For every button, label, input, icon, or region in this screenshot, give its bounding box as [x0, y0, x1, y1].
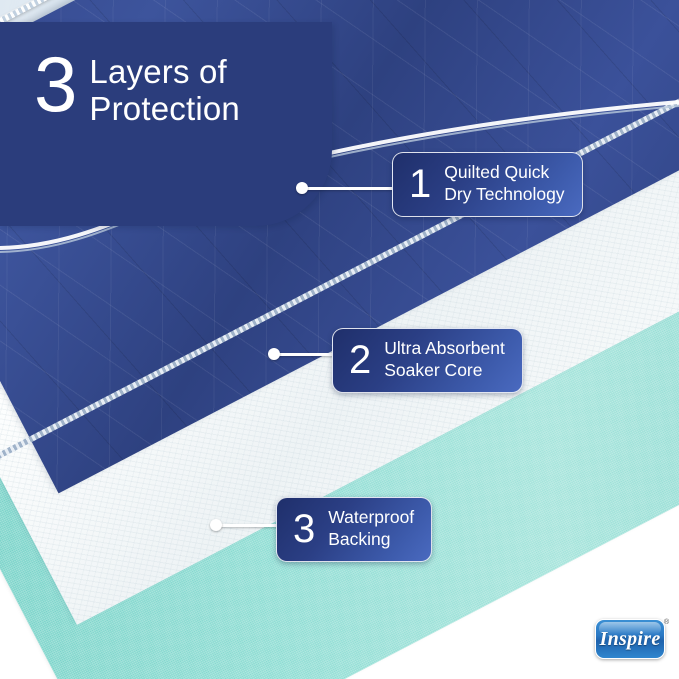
leader-line-2 [276, 353, 336, 356]
brand-logo-badge: Inspire [595, 619, 665, 659]
leader-dot-1 [296, 182, 308, 194]
brand-logo: Inspire ® [595, 619, 667, 661]
leader-dot-3 [210, 519, 222, 531]
headline-line-2: Protection [89, 91, 240, 128]
callout-3-line-2: Backing [328, 529, 414, 551]
callout-number-1: 1 [409, 164, 431, 204]
headline-banner-content: 3 Layers of Protection [34, 48, 240, 128]
headline-line-1: Layers of [89, 54, 240, 91]
callout-text-3: Waterproof Backing [328, 507, 414, 550]
callout-2-line-1: Ultra Absorbent [384, 338, 505, 360]
headline-number: 3 [34, 48, 75, 121]
callout-ultra-absorbent-core: 2 Ultra Absorbent Soaker Core [332, 328, 523, 393]
leader-line-1 [304, 187, 396, 190]
brand-logo-text: Inspire [599, 628, 660, 651]
callout-text-2: Ultra Absorbent Soaker Core [384, 338, 505, 381]
product-infographic-scene: 3 Layers of Protection 1 Quilted Quick D… [0, 0, 679, 679]
callout-number-2: 2 [349, 340, 371, 380]
callout-quilted-quick-dry: 1 Quilted Quick Dry Technology [392, 152, 583, 217]
headline-text: Layers of Protection [89, 48, 240, 128]
callout-number-3: 3 [293, 509, 315, 549]
callout-3-line-1: Waterproof [328, 507, 414, 529]
registered-trademark-symbol: ® [664, 619, 669, 626]
callout-1-line-2: Dry Technology [444, 184, 564, 206]
callout-waterproof-backing: 3 Waterproof Backing [276, 497, 432, 562]
headline-banner: 3 Layers of Protection [0, 22, 332, 226]
leader-line-3 [218, 524, 280, 527]
leader-dot-2 [268, 348, 280, 360]
callout-2-line-2: Soaker Core [384, 360, 505, 382]
callout-1-line-1: Quilted Quick [444, 162, 564, 184]
callout-text-1: Quilted Quick Dry Technology [444, 162, 564, 205]
